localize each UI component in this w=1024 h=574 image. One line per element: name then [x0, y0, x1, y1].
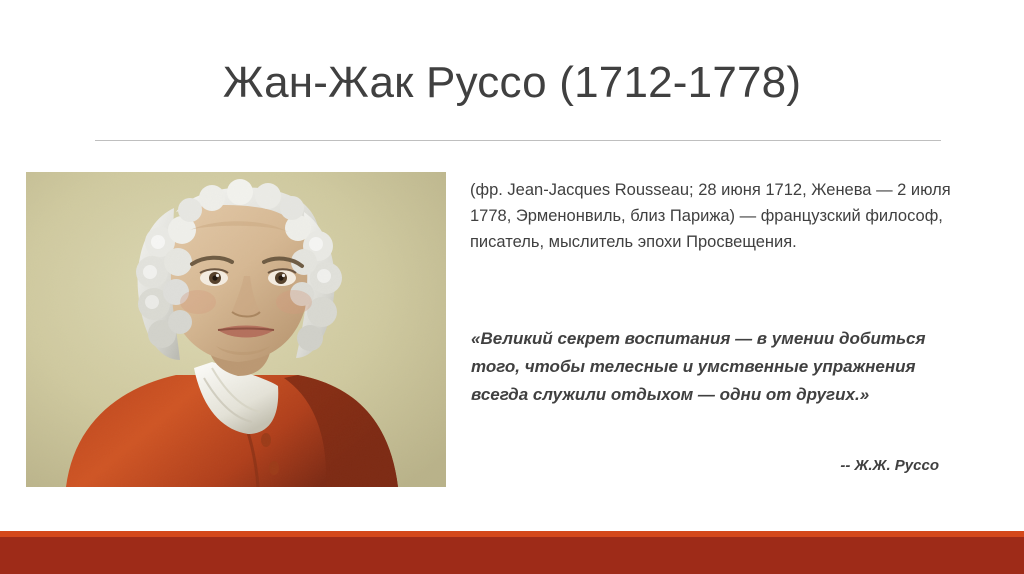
- quotation-text: «Великий секрет воспитания — в умении до…: [471, 325, 961, 409]
- slide: Жан-Жак Руссо (1712-1778): [0, 0, 1024, 574]
- portrait-illustration: [26, 172, 446, 487]
- footer-base-bar: [0, 537, 1024, 574]
- biography-text: (фр. Jean-Jacques Rousseau; 28 июня 1712…: [470, 177, 960, 255]
- title-divider: [95, 140, 941, 141]
- quote-attribution: -- Ж.Ж. Руссо: [471, 455, 939, 477]
- page-title: Жан-Жак Руссо (1712-1778): [0, 56, 1024, 110]
- portrait-image: [26, 172, 446, 487]
